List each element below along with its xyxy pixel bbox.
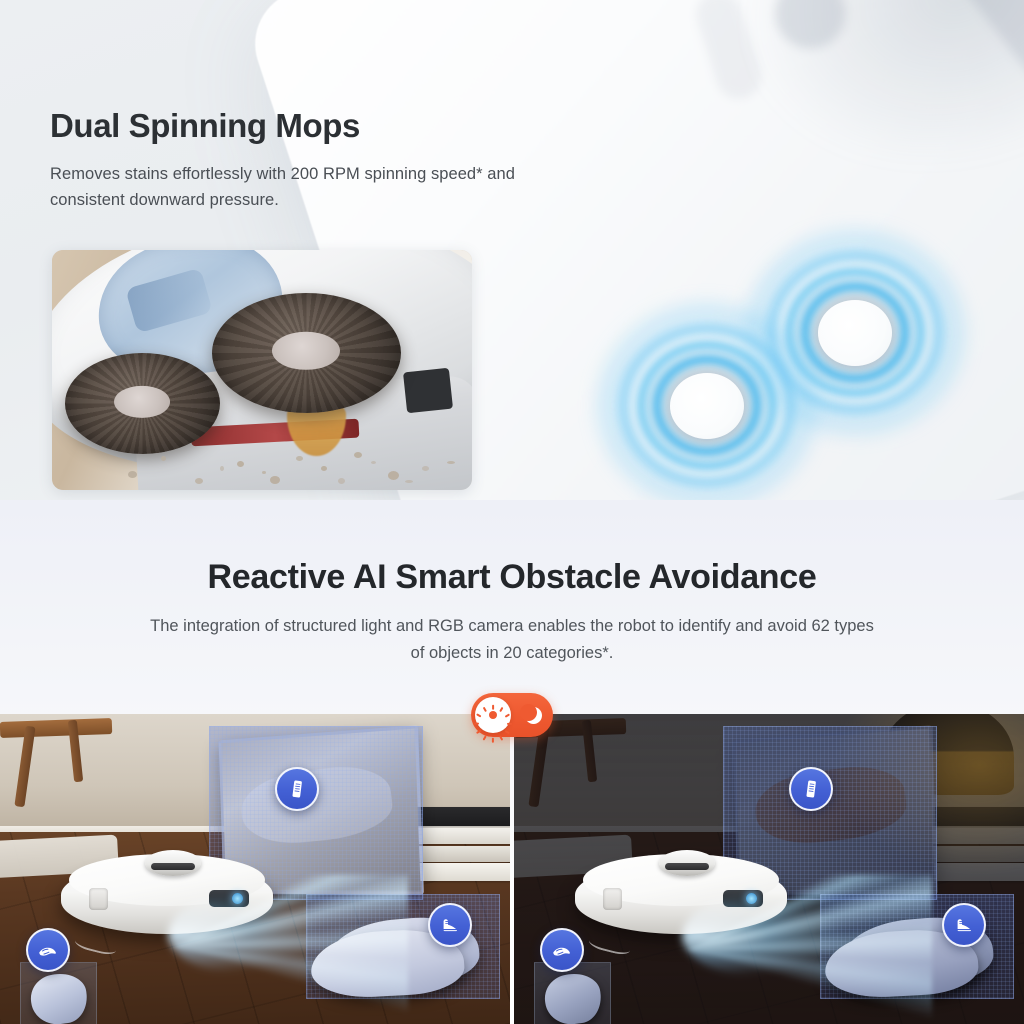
debris	[321, 466, 327, 471]
debris	[338, 478, 345, 484]
structured-light-beam-core	[682, 894, 845, 978]
debris	[388, 471, 399, 480]
mop-pad-left	[65, 353, 220, 454]
badge-cloth-icon[interactable]	[540, 928, 584, 972]
cloth-icon	[36, 938, 60, 962]
robot-vent	[603, 888, 622, 910]
debris	[195, 478, 203, 484]
robot-vent	[89, 888, 108, 910]
shoe-icon	[438, 913, 462, 937]
page-title: Dual Spinning Mops	[50, 108, 520, 145]
ai-section-title: Reactive AI Smart Obstacle Avoidance	[0, 558, 1024, 597]
section-dual-spinning-mops: Dual Spinning Mops Removes stains effort…	[0, 0, 1024, 500]
ai-text-block: Reactive AI Smart Obstacle Avoidance The…	[0, 558, 1024, 667]
mop-pads-photo	[52, 250, 472, 490]
panel-icon	[800, 778, 822, 800]
badge-cloth-icon[interactable]	[26, 928, 70, 972]
debris	[128, 471, 137, 478]
structured-light-beam-core	[168, 894, 321, 975]
debris	[270, 476, 280, 484]
panel-icon	[286, 778, 308, 800]
badge-panel-icon[interactable]	[275, 767, 319, 811]
obstacle-avoidance-comparison	[0, 714, 1024, 1024]
debris	[220, 466, 224, 471]
sun-icon	[482, 704, 504, 726]
mop-pad-right	[212, 293, 401, 413]
mop-hub	[818, 300, 892, 366]
spinning-mop-glow-left	[612, 318, 802, 493]
side-module	[403, 368, 453, 413]
badge-panel-icon[interactable]	[789, 767, 833, 811]
mop-pad-hub	[114, 385, 170, 417]
panel-night-scene[interactable]	[514, 714, 1024, 1024]
debris	[354, 452, 362, 458]
robot-shadow	[701, 0, 1024, 216]
product-feature-page: Dual Spinning Mops Removes stains effort…	[0, 0, 1024, 1024]
debris	[262, 471, 266, 474]
debris	[422, 466, 429, 471]
mop-pad-hub	[272, 332, 340, 370]
ai-description: The integration of structured light and …	[142, 613, 882, 667]
cloth-icon	[550, 938, 574, 962]
shoe-icon	[952, 913, 976, 937]
toggle-knob[interactable]	[475, 697, 511, 733]
moon-icon	[525, 707, 542, 724]
mops-text-block: Dual Spinning Mops Removes stains effort…	[50, 108, 520, 213]
mop-hub	[670, 373, 744, 439]
mops-description: Removes stains effortlessly with 200 RPM…	[50, 161, 520, 213]
day-night-toggle[interactable]	[471, 693, 553, 737]
panel-day-scene[interactable]	[0, 714, 510, 1024]
debris	[237, 461, 244, 467]
